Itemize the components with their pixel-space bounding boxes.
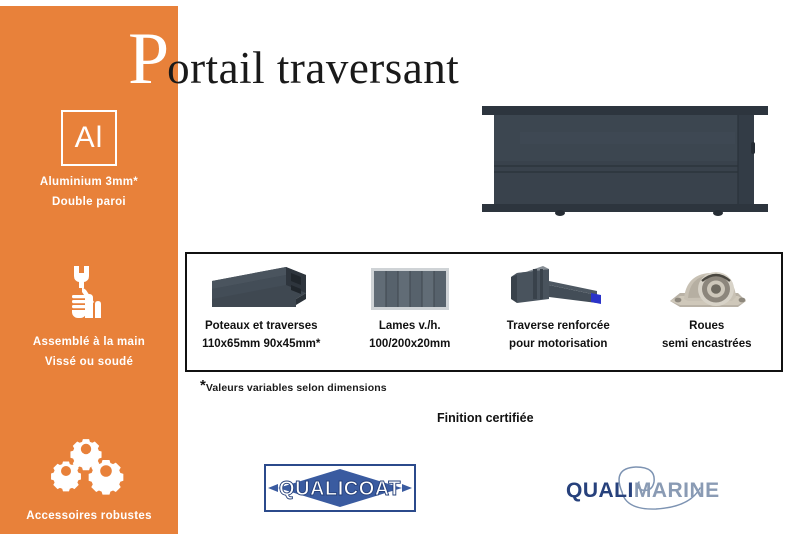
aluminium-square-icon: Al (61, 110, 117, 166)
sidebar-item-aluminium-label-1: Aluminium 3mm* (0, 176, 178, 189)
feature-roues: Roues semi encastrées (633, 254, 782, 370)
sliding-gate-photo (480, 104, 770, 216)
post-profile-icon (208, 261, 314, 317)
sidebar-item-aluminium-label-2: Double paroi (0, 196, 178, 209)
feature-panel: Poteaux et traverses 110x65mm 90x45mm* (185, 252, 783, 372)
feature-poteaux-subtitle: 110x65mm 90x45mm* (202, 337, 320, 352)
sidebar-item-aluminium: Al Aluminium 3mm* Double paroi (0, 110, 178, 208)
qualicoat-logo-text: QUALICOAT (279, 478, 401, 500)
qualicoat-logo: QUALICOAT (264, 464, 416, 512)
feature-roues-subtitle: semi encastrées (662, 337, 752, 352)
gears-icon (44, 430, 134, 496)
sidebar-item-assembly: Assemblé à la main Vissé ou soudé (0, 262, 178, 368)
feature-lames-title: Lames v./h. (379, 319, 441, 333)
sidebar-item-accessories-label-1: Accessoires robustes (0, 510, 178, 523)
feature-poteaux: Poteaux et traverses 110x65mm 90x45mm* (187, 254, 336, 370)
qualimarine-logo-text-part2: MARINE (634, 479, 720, 502)
reinforced-crossbar-icon (505, 261, 611, 317)
footnote: *Valeurs variables selon dimensions (200, 378, 387, 396)
hand-wrench-icon (58, 262, 120, 324)
feature-traverse-title: Traverse renforcée (507, 319, 610, 333)
page-title: Portail traversant (128, 22, 459, 96)
slats-panel-icon (357, 261, 463, 317)
page-title-initial: P (128, 18, 169, 100)
qualimarine-logo-text-part1: QUALI (566, 479, 634, 502)
sidebar-item-accessories: Accessoires robustes (0, 430, 178, 523)
sidebar-item-assembly-label-2: Vissé ou soudé (0, 356, 178, 369)
feature-lames: Lames v./h. 100/200x20mm (336, 254, 485, 370)
feature-traverse: Traverse renforcée pour motorisation (484, 254, 633, 370)
feature-poteaux-title: Poteaux et traverses (205, 319, 318, 333)
feature-traverse-subtitle: pour motorisation (509, 337, 607, 352)
aluminium-square-icon-label: Al (75, 123, 104, 153)
certification-heading: Finition certifiée (437, 411, 534, 425)
wheel-bearing-icon (654, 261, 760, 317)
feature-lames-subtitle: 100/200x20mm (369, 337, 450, 352)
qualimarine-logo-text: QUALIMARINE (566, 480, 720, 501)
qualimarine-logo: QUALIMARINE (560, 462, 720, 516)
feature-roues-title: Roues (689, 319, 724, 333)
page-title-rest: ortail traversant (167, 43, 459, 93)
slide-page: Al Aluminium 3mm* Double paroi (0, 0, 800, 534)
sidebar-item-assembly-label-1: Assemblé à la main (0, 336, 178, 349)
qualicoat-logo-art: QUALICOAT (266, 466, 414, 510)
footnote-text: Valeurs variables selon dimensions (206, 382, 387, 394)
